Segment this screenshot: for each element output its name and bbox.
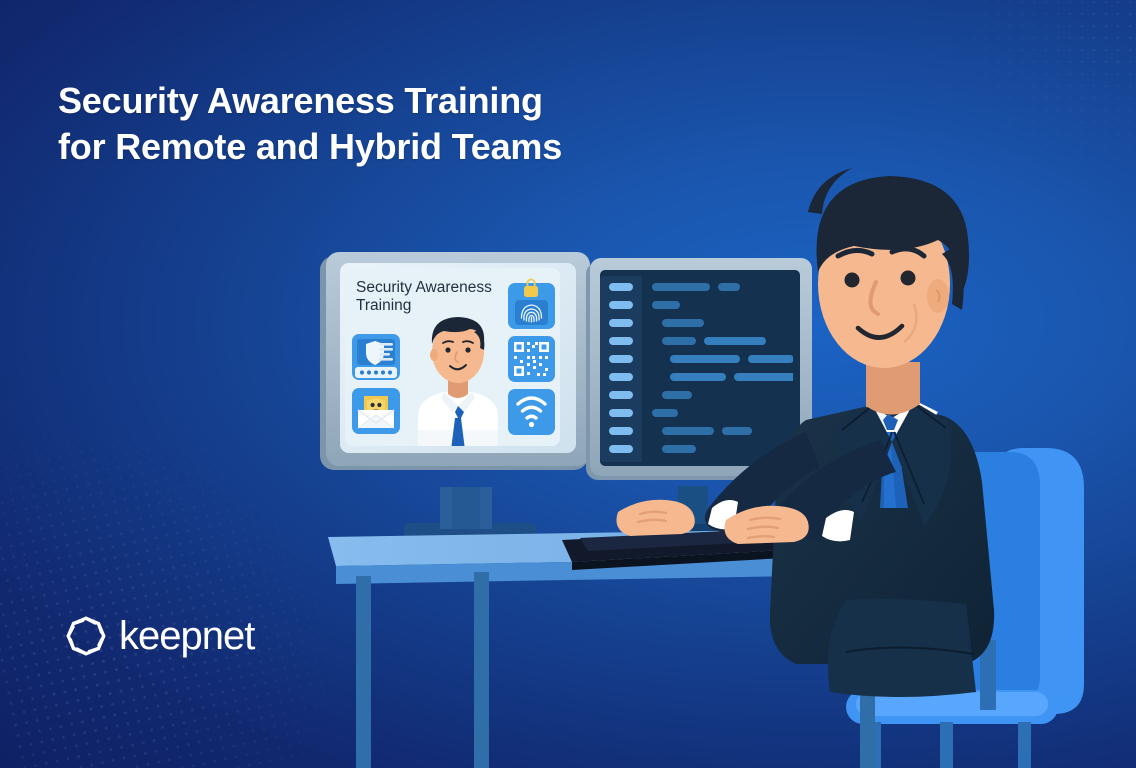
screen-title-line-1: Security Awareness bbox=[356, 279, 492, 296]
phishing-email-skull-icon bbox=[352, 388, 400, 434]
fingerprint-lock-icon bbox=[508, 279, 555, 329]
keepnet-aperture-icon bbox=[62, 612, 110, 660]
qr-code-icon bbox=[508, 336, 555, 382]
screen-title-line-2: Training bbox=[356, 297, 411, 314]
page-title: Security Awareness Training for Remote a… bbox=[58, 78, 562, 170]
illustration-banner: Security Awareness Training bbox=[0, 0, 1136, 768]
id-card-shield-icon bbox=[352, 334, 400, 380]
wifi-icon bbox=[508, 389, 555, 435]
left-monitor: Security Awareness Training bbox=[320, 252, 590, 541]
keepnet-logo[interactable]: keepnet bbox=[62, 612, 254, 660]
brand-wordmark: keepnet bbox=[119, 614, 254, 659]
